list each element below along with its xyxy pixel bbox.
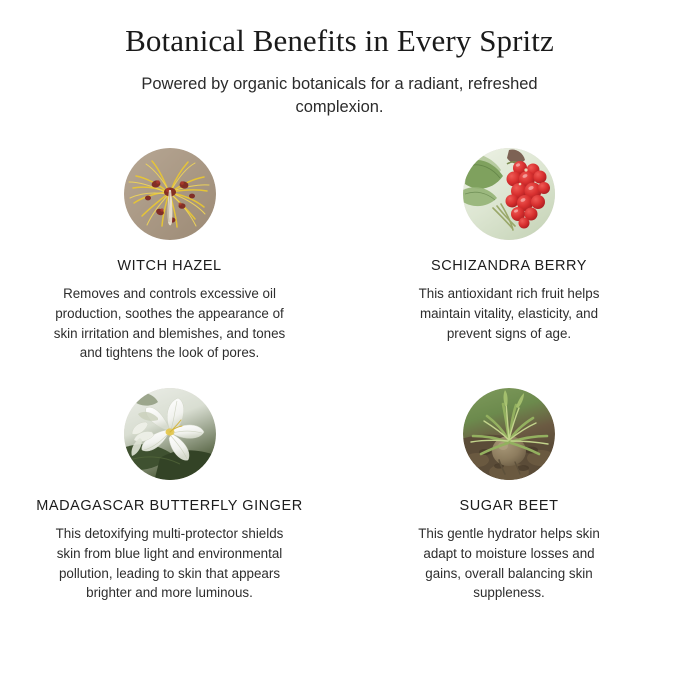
page-title: Botanical Benefits in Every Spritz [0, 22, 679, 61]
botanical-benefits-panel: Botanical Benefits in Every Spritz Power… [0, 0, 679, 679]
ingredient-description: Removes and controls excessive oil produ… [47, 284, 293, 363]
ingredient-name: MADAGASCAR BUTTERFLY GINGER [0, 498, 339, 515]
page-subtitle: Powered by organic botanicals for a radi… [130, 73, 550, 120]
ingredient-card-witch-hazel: WITCH HAZEL Removes and controls excessi… [0, 140, 339, 380]
ingredient-grid: WITCH HAZEL Removes and controls excessi… [0, 140, 679, 620]
ingredient-description: This gentle hydrator helps skin adapt to… [409, 524, 609, 603]
sugar-beet-photo [463, 388, 555, 480]
ingredient-card-schizandra-berry: SCHIZANDRA BERRY This antioxidant rich f… [339, 140, 679, 380]
ingredient-name: SUGAR BEET [339, 498, 679, 515]
ingredient-description: This detoxifying multi-protector shields… [44, 524, 296, 603]
witch-hazel-photo [124, 148, 216, 240]
madagascar-butterfly-ginger-photo [124, 388, 216, 480]
ingredient-card-madagascar-butterfly-ginger: MADAGASCAR BUTTERFLY GINGER This detoxif… [0, 380, 339, 620]
schizandra-berry-photo [463, 148, 555, 240]
header: Botanical Benefits in Every Spritz Power… [0, 0, 679, 120]
ingredient-description: This antioxidant rich fruit helps mainta… [406, 284, 612, 343]
ingredient-card-sugar-beet: SUGAR BEET This gentle hydrator helps sk… [339, 380, 679, 620]
ingredient-name: WITCH HAZEL [0, 258, 339, 275]
ingredient-name: SCHIZANDRA BERRY [339, 258, 679, 275]
